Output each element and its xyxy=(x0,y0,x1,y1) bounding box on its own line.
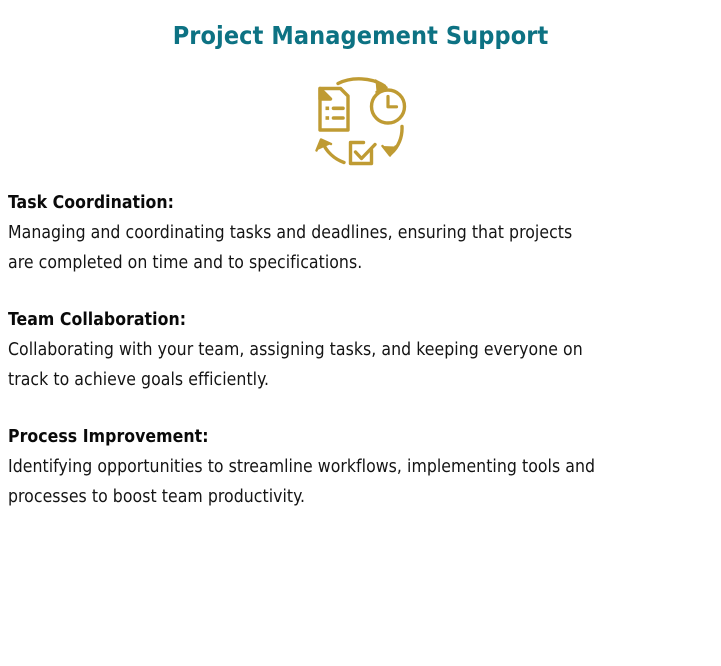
body-line: Identifying opportunities to streamline … xyxy=(8,452,714,482)
content-sections: Task Coordination: Managing and coordina… xyxy=(8,189,714,512)
body-line: track to achieve goals efficiently. xyxy=(8,365,714,395)
section-body: Managing and coordinating tasks and dead… xyxy=(8,218,714,278)
section-team-collaboration: Team Collaboration: Collaborating with y… xyxy=(8,306,714,395)
document-checklist-icon xyxy=(320,89,348,131)
section-body: Collaborating with your team, assigning … xyxy=(8,335,714,395)
section-body: Identifying opportunities to streamline … xyxy=(8,452,714,512)
arrow-curved-top-right xyxy=(338,79,387,92)
arrow-curved-bottom-left xyxy=(317,140,345,163)
section-process-improvement: Process Improvement: Identifying opportu… xyxy=(8,423,714,512)
project-management-cycle-icon xyxy=(300,68,420,176)
body-line: Collaborating with your team, assigning … xyxy=(8,335,714,365)
checkbox-check-icon xyxy=(351,143,376,164)
body-line: Managing and coordinating tasks and dead… xyxy=(8,218,714,248)
section-heading: Team Collaboration: xyxy=(8,306,714,335)
body-line: are completed on time and to specificati… xyxy=(8,248,714,278)
section-heading: Task Coordination: xyxy=(8,189,714,218)
section-task-coordination: Task Coordination: Managing and coordina… xyxy=(8,189,714,278)
arrow-curved-right-down xyxy=(383,127,403,156)
clock-icon xyxy=(372,90,405,123)
page-title: Project Management Support xyxy=(0,21,721,51)
body-line: processes to boost team productivity. xyxy=(8,482,714,512)
section-heading: Process Improvement: xyxy=(8,423,714,452)
slide-canvas: Project Management Support xyxy=(0,0,721,666)
